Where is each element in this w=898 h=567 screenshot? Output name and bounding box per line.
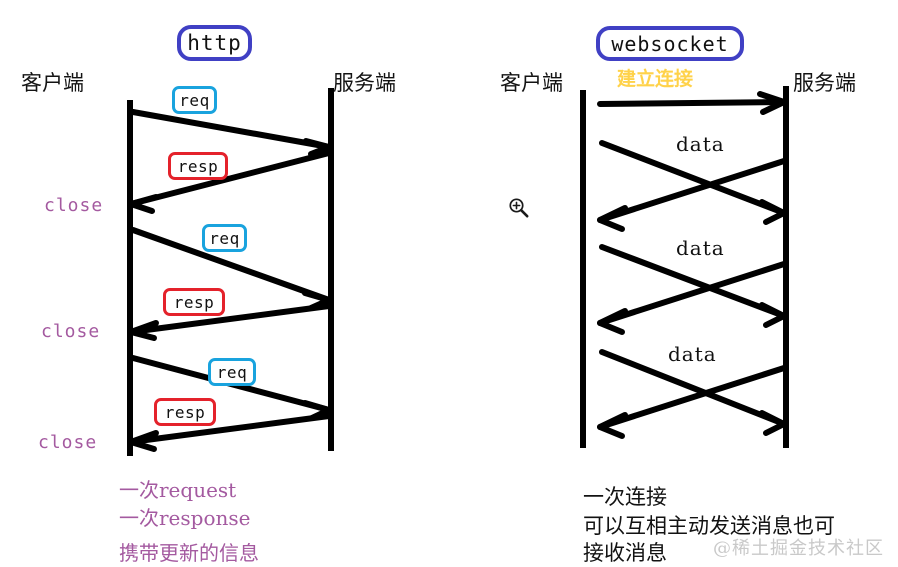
protocol-title-websocket: websocket — [596, 26, 744, 61]
left-note-line-1: 一次request — [119, 474, 236, 503]
arrow-response-2 — [131, 306, 329, 338]
arrow-data-2-in — [600, 264, 784, 332]
magnifier-zoom-in-icon — [507, 196, 531, 220]
message-tag-req-3: req — [208, 358, 256, 386]
message-tag-resp-1: resp — [168, 152, 228, 180]
data-label-2: data — [676, 236, 725, 260]
arrow-data-3-in — [600, 368, 784, 436]
arrow-response-1 — [131, 153, 329, 211]
left-note-line-2: 一次response — [119, 502, 250, 531]
message-tag-resp-3: resp — [154, 398, 216, 426]
arrow-request-1 — [133, 112, 329, 154]
arrow-data-1-in — [600, 161, 784, 229]
right-server-label: 服务端 — [793, 67, 856, 97]
protocol-title-http: http — [177, 25, 252, 61]
handshake-label: 建立连接 — [617, 64, 693, 91]
right-client-label: 客户端 — [500, 67, 563, 97]
arrow-handshake — [600, 94, 784, 112]
left-note-line-3: 携带更新的信息 — [119, 537, 259, 566]
close-marker-3: close — [38, 432, 97, 453]
left-client-label: 客户端 — [21, 67, 84, 97]
message-tag-req-1: req — [172, 86, 217, 114]
message-tag-req-2: req — [202, 224, 247, 252]
close-marker-1: close — [44, 195, 103, 216]
right-note-line-1: 一次连接 — [583, 481, 667, 511]
left-server-label: 服务端 — [333, 67, 396, 97]
data-label-1: data — [676, 132, 725, 156]
data-label-3: data — [668, 342, 717, 366]
close-marker-2: close — [41, 321, 100, 342]
watermark-text: @稀土掘金技术社区 — [713, 534, 884, 560]
message-tag-resp-2: resp — [163, 288, 225, 316]
